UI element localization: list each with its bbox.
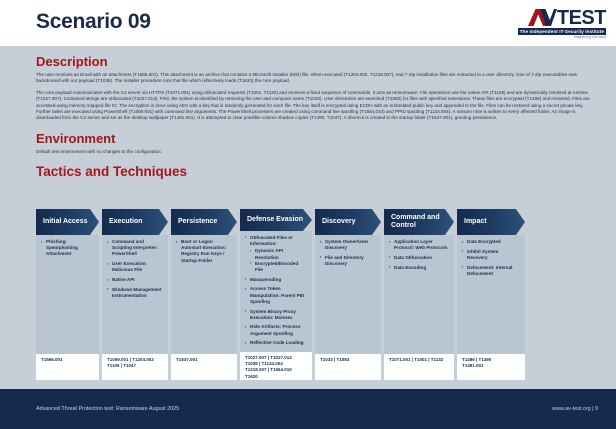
content-area: Description The user receives an Email w… bbox=[36, 54, 598, 182]
technique-item: Phishing: Spearphishing Attachment bbox=[41, 239, 94, 258]
technique-id-list: T1027.007 | T1027.013T1036 | T1134.004T1… bbox=[240, 352, 312, 380]
environment-text: Default test environment with no changes… bbox=[36, 149, 598, 155]
tactic-header: Initial Access bbox=[36, 209, 99, 235]
tactics-table: Initial AccessPhishing: Spearphishing At… bbox=[36, 209, 584, 380]
tactic-column-persistence: PersistenceBoot or Logon Autostart Execu… bbox=[171, 209, 237, 380]
technique-subitem: Encrypted/Encoded File bbox=[250, 261, 307, 273]
technique-item: Boot or Logon Autostart Execution: Regis… bbox=[176, 239, 232, 264]
tactic-column-execution: ExecutionCommand and Scripting Interpret… bbox=[102, 209, 168, 380]
technique-id: T1033 | T1083 bbox=[320, 357, 376, 363]
technique-list: Command and Scripting Interpreter: Power… bbox=[107, 239, 163, 299]
tactic-header: Discovery bbox=[315, 209, 381, 235]
tactic-column-command-and-control: Command and ControlApplication Layer Pro… bbox=[384, 209, 454, 380]
av-logo-tagline: The Independent IT-Security Institute bbox=[518, 28, 606, 35]
tactic-header: Execution bbox=[102, 209, 168, 235]
technique-item: Command and Scripting Interpreter: Power… bbox=[107, 239, 163, 258]
technique-id-list: T1566.001 bbox=[36, 354, 99, 380]
tactic-column-initial-access: Initial AccessPhishing: Spearphishing At… bbox=[36, 209, 99, 380]
footer-site-and-page: www.av-test.org | 9 bbox=[552, 406, 598, 412]
technique-list: Boot or Logon Autostart Execution: Regis… bbox=[176, 239, 232, 264]
technique-id-list: T1059.001 | T1204.002T1106 | T1047 bbox=[102, 354, 168, 380]
technique-item: Access Token Manipulation: Parent PID Sp… bbox=[245, 286, 307, 305]
technique-sublist: Dynamic API ResolutionEncrypted/Encoded … bbox=[250, 248, 307, 273]
technique-id-list: T1547.001 bbox=[171, 354, 237, 380]
technique-list-container: Application Layer Protocol: Web Protocol… bbox=[384, 235, 454, 354]
technique-list-container: Command and Scripting Interpreter: Power… bbox=[102, 235, 168, 354]
description-paragraph-1: The user receives an Email with an attac… bbox=[36, 72, 598, 85]
technique-item: System Owner/User Discovery bbox=[320, 239, 376, 251]
technique-item: Obfuscated Files or Information:Dynamic … bbox=[245, 235, 307, 273]
technique-item: Data Encoding bbox=[389, 265, 449, 271]
av-logo-location: Magdeburg Germany bbox=[496, 35, 606, 39]
technique-list-container: Obfuscated Files or Information:Dynamic … bbox=[240, 231, 312, 352]
tactics-heading: Tactics and Techniques bbox=[36, 164, 598, 179]
environment-heading: Environment bbox=[36, 131, 598, 146]
tactic-header: Defense Evasion bbox=[240, 209, 312, 231]
technique-list: Obfuscated Files or Information:Dynamic … bbox=[245, 235, 307, 347]
technique-item: Defacement: Internal Defacement bbox=[462, 265, 520, 277]
technique-id: T1620 bbox=[245, 374, 307, 380]
technique-item: File and Directory Discovery bbox=[320, 255, 376, 267]
technique-item: Hide Artifacts: Process Argument Spoofin… bbox=[245, 324, 307, 336]
technique-list: Phishing: Spearphishing Attachment bbox=[41, 239, 94, 258]
technique-id-list: T1033 | T1083 bbox=[315, 354, 381, 380]
tactic-column-defense-evasion: Defense EvasionObfuscated Files or Infor… bbox=[240, 209, 312, 380]
technique-item: Native API bbox=[107, 277, 163, 283]
technique-item: Data Obfuscation bbox=[389, 255, 449, 261]
technique-item: Inhibit System Recovery bbox=[462, 249, 520, 261]
technique-list: Data EncryptedInhibit System RecoveryDef… bbox=[462, 239, 520, 277]
page-title: Scenario 09 bbox=[36, 10, 151, 34]
description-heading: Description bbox=[36, 54, 598, 69]
technique-item: User Execution: Malicious File bbox=[107, 261, 163, 273]
technique-id: T1566.001 bbox=[41, 357, 94, 363]
av-test-logo: TEST The Independent IT-Security Institu… bbox=[496, 8, 606, 40]
technique-id-list: T1486 | T1490T1491.001 bbox=[457, 354, 525, 380]
technique-list-container: System Owner/User DiscoveryFile and Dire… bbox=[315, 235, 381, 354]
tactic-header: Persistence bbox=[171, 209, 237, 235]
technique-list: Application Layer Protocol: Web Protocol… bbox=[389, 239, 449, 271]
technique-item: Application Layer Protocol: Web Protocol… bbox=[389, 239, 449, 251]
tactic-column-impact: ImpactData EncryptedInhibit System Recov… bbox=[457, 209, 525, 380]
technique-list-container: Data EncryptedInhibit System RecoveryDef… bbox=[457, 235, 525, 354]
technique-id: T1106 | T1047 bbox=[107, 363, 163, 369]
technique-list: System Owner/User DiscoveryFile and Dire… bbox=[320, 239, 376, 267]
technique-id: T1547.001 bbox=[176, 357, 232, 363]
technique-subitem: Dynamic API Resolution bbox=[250, 248, 307, 260]
technique-item: Reflective Code Loading bbox=[245, 340, 307, 346]
technique-id: T1491.001 bbox=[462, 363, 520, 369]
av-logo-mark bbox=[527, 8, 557, 27]
technique-id: T1071.001 | T1001 | T1132 bbox=[389, 357, 449, 363]
technique-id-list: T1071.001 | T1001 | T1132 bbox=[384, 354, 454, 380]
technique-item: Windows Management Instrumentation bbox=[107, 287, 163, 299]
tactic-header: Command and Control bbox=[384, 209, 454, 235]
technique-list-container: Boot or Logon Autostart Execution: Regis… bbox=[171, 235, 237, 354]
slide-footer: Advanced Threat Protection test: Ransomw… bbox=[0, 389, 616, 429]
description-paragraph-2: The core payload communicates with the C… bbox=[36, 90, 598, 122]
technique-item: Masquerading bbox=[245, 277, 307, 283]
av-logo-wordmark: TEST bbox=[557, 9, 606, 27]
technique-list-container: Phishing: Spearphishing Attachment bbox=[36, 235, 99, 354]
footer-test-name: Advanced Threat Protection test: Ransomw… bbox=[36, 406, 179, 412]
technique-item: System Binary Proxy Execution: Msiexec bbox=[245, 309, 307, 321]
slide-header: Scenario 09 TEST The Independent IT-Secu… bbox=[0, 0, 616, 46]
slide-page: Scenario 09 TEST The Independent IT-Secu… bbox=[0, 0, 616, 429]
tactic-column-discovery: DiscoverySystem Owner/User DiscoveryFile… bbox=[315, 209, 381, 380]
tactic-header: Impact bbox=[457, 209, 525, 235]
technique-item: Data Encrypted bbox=[462, 239, 520, 245]
